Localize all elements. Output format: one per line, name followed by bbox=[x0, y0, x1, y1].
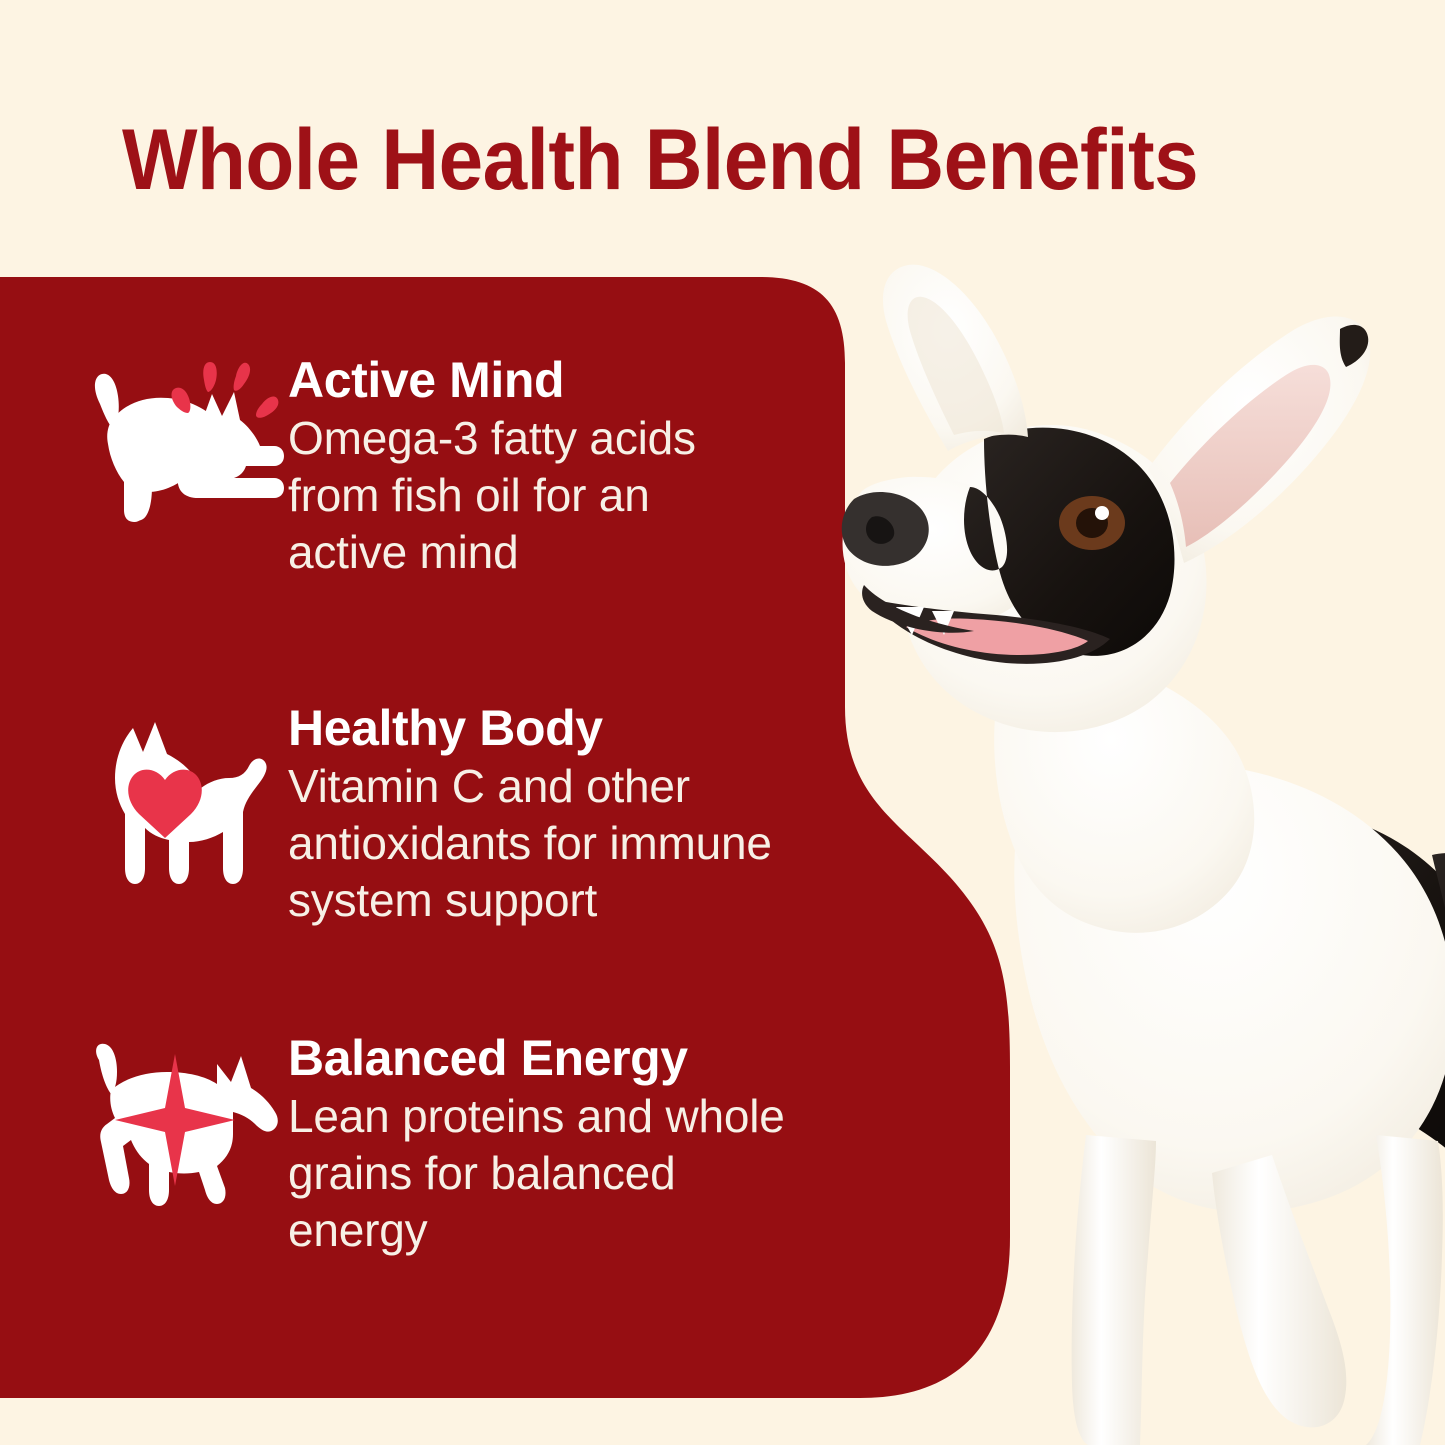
benefit-description: Omega-3 fatty acids from fish oil for an… bbox=[288, 410, 758, 581]
dog-eye-highlight bbox=[1095, 506, 1109, 520]
benefit-description: Lean proteins and whole grains for balan… bbox=[288, 1088, 788, 1259]
benefit-item-active-mind: Active Mind Omega-3 fatty acids from fis… bbox=[78, 352, 898, 581]
promo-graphic: Whole Health Blend Benefits bbox=[0, 0, 1445, 1445]
benefit-description: Vitamin C and other antioxidants for imm… bbox=[288, 758, 908, 929]
dog-hind-leg bbox=[1366, 1135, 1443, 1445]
benefit-item-balanced-energy: Balanced Energy Lean proteins and whole … bbox=[78, 1030, 908, 1259]
benefit-item-healthy-body: Healthy Body Vitamin C and other antioxi… bbox=[78, 700, 1038, 929]
dog-running-star-icon bbox=[78, 1030, 288, 1213]
dog-front-leg-left bbox=[1072, 1135, 1156, 1445]
dog-play-bow-sparkle-icon bbox=[78, 352, 288, 530]
benefit-heading: Active Mind bbox=[288, 352, 758, 408]
benefit-heading: Healthy Body bbox=[288, 700, 908, 756]
benefit-heading: Balanced Energy bbox=[288, 1030, 788, 1086]
dog-standing-heart-icon bbox=[78, 700, 288, 893]
page-title: Whole Health Blend Benefits bbox=[122, 112, 1238, 208]
